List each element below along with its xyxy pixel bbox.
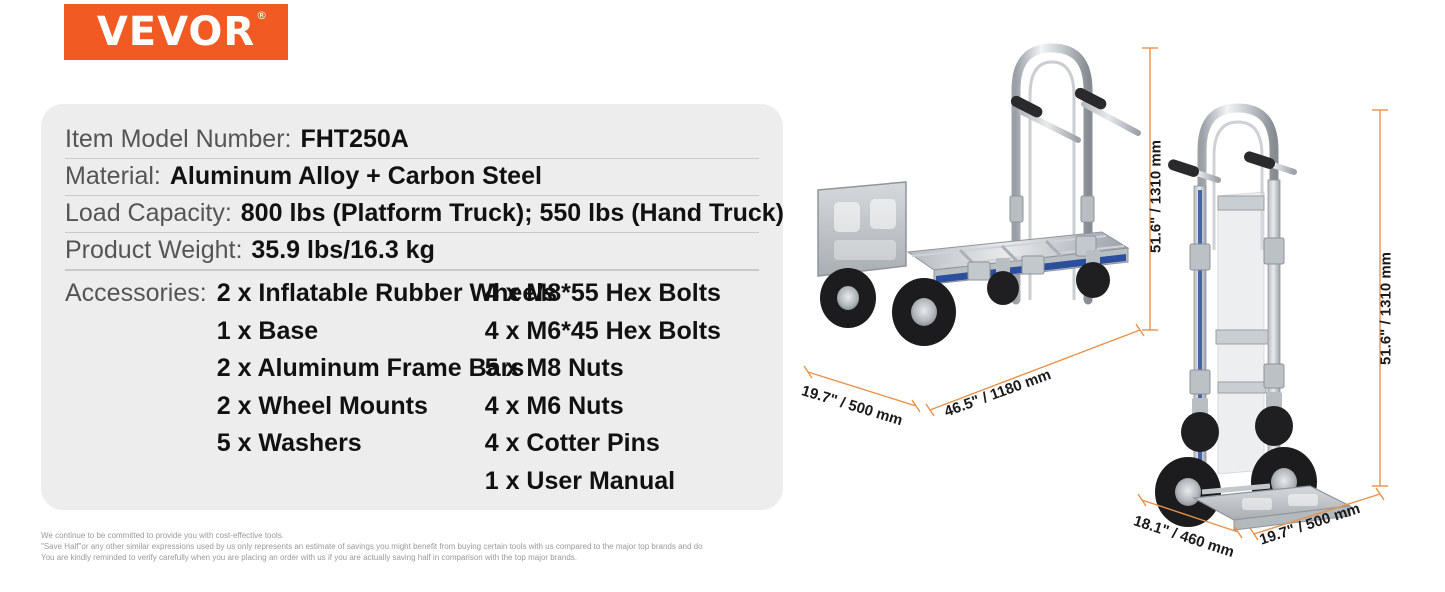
nose-plate bbox=[818, 182, 906, 276]
spec-label-model: Item Model Number: bbox=[65, 125, 291, 154]
accessory-item: 2 x Inflatable Rubber Wheels bbox=[217, 275, 485, 313]
registered-trademark-icon: ® bbox=[256, 10, 268, 21]
spec-row-material: Material: Aluminum Alloy + Carbon Steel bbox=[65, 159, 759, 196]
accessories-columns: 2 x Inflatable Rubber Wheels 1 x Base 2 … bbox=[217, 275, 721, 500]
spec-value-load-capacity: 800 lbs (Platform Truck); 550 lbs (Hand … bbox=[241, 199, 784, 228]
accessory-item: 2 x Wheel Mounts bbox=[217, 388, 485, 426]
spec-value-material: Aluminum Alloy + Carbon Steel bbox=[170, 162, 542, 191]
spec-value-model: FHT250A bbox=[300, 125, 408, 154]
spec-label-material: Material: bbox=[65, 162, 161, 191]
hand-truck-illustration bbox=[1138, 108, 1388, 540]
accessory-item: 1 x User Manual bbox=[485, 463, 721, 501]
disclaimer-text: We continue to be committed to provide y… bbox=[41, 530, 801, 563]
platform-truck-illustration bbox=[804, 48, 1158, 416]
disclaimer-line: We continue to be committed to provide y… bbox=[41, 530, 801, 541]
spec-label-accessories: Accessories: bbox=[65, 275, 207, 308]
accessories-column-right: 4 x M8*55 Hex Bolts 4 x M6*45 Hex Bolts … bbox=[485, 275, 721, 500]
accessory-item: 4 x M6 Nuts bbox=[485, 388, 721, 426]
spec-row-accessories: Accessories: 2 x Inflatable Rubber Wheel… bbox=[65, 270, 759, 500]
accessory-item: 4 x M8*55 Hex Bolts bbox=[485, 275, 721, 313]
disclaimer-line: You are kindly reminded to verify carefu… bbox=[41, 552, 801, 563]
vevor-logo: VEVOR® bbox=[64, 4, 288, 60]
accessory-item: 2 x Aluminum Frame Bars bbox=[217, 350, 485, 388]
spec-row-load-capacity: Load Capacity: 800 lbs (Platform Truck);… bbox=[65, 196, 759, 233]
accessory-item: 4 x M6*45 Hex Bolts bbox=[485, 313, 721, 351]
accessory-item: 5 x M8 Nuts bbox=[485, 350, 721, 388]
accessory-item: 1 x Base bbox=[217, 313, 485, 351]
accessory-item: 5 x Washers bbox=[217, 425, 485, 463]
spec-row-product-weight: Product Weight: 35.9 lbs/16.3 kg bbox=[65, 233, 759, 270]
dimension-label-handtruck-height: 51.6" / 1310 mm bbox=[1378, 252, 1395, 365]
disclaimer-line: "Save Half"or any other similar expressi… bbox=[41, 541, 801, 552]
spec-row-model: Item Model Number: FHT250A bbox=[65, 122, 759, 159]
accessory-item: 4 x Cotter Pins bbox=[485, 425, 721, 463]
spec-value-product-weight: 35.9 lbs/16.3 kg bbox=[251, 236, 434, 265]
spec-label-load-capacity: Load Capacity: bbox=[65, 199, 232, 228]
brand-name: VEVOR bbox=[97, 9, 255, 55]
accessories-column-left: 2 x Inflatable Rubber Wheels 1 x Base 2 … bbox=[217, 275, 485, 500]
specification-panel: Item Model Number: FHT250A Material: Alu… bbox=[41, 104, 783, 510]
product-illustrations: 51.6" / 1310 mm 19.7" / 500 mm 46.5" / 1… bbox=[790, 0, 1445, 592]
spec-label-product-weight: Product Weight: bbox=[65, 236, 242, 265]
brand-wordmark: VEVOR® bbox=[97, 12, 255, 52]
dimension-label-platform-height: 51.6" / 1310 mm bbox=[1148, 140, 1165, 253]
